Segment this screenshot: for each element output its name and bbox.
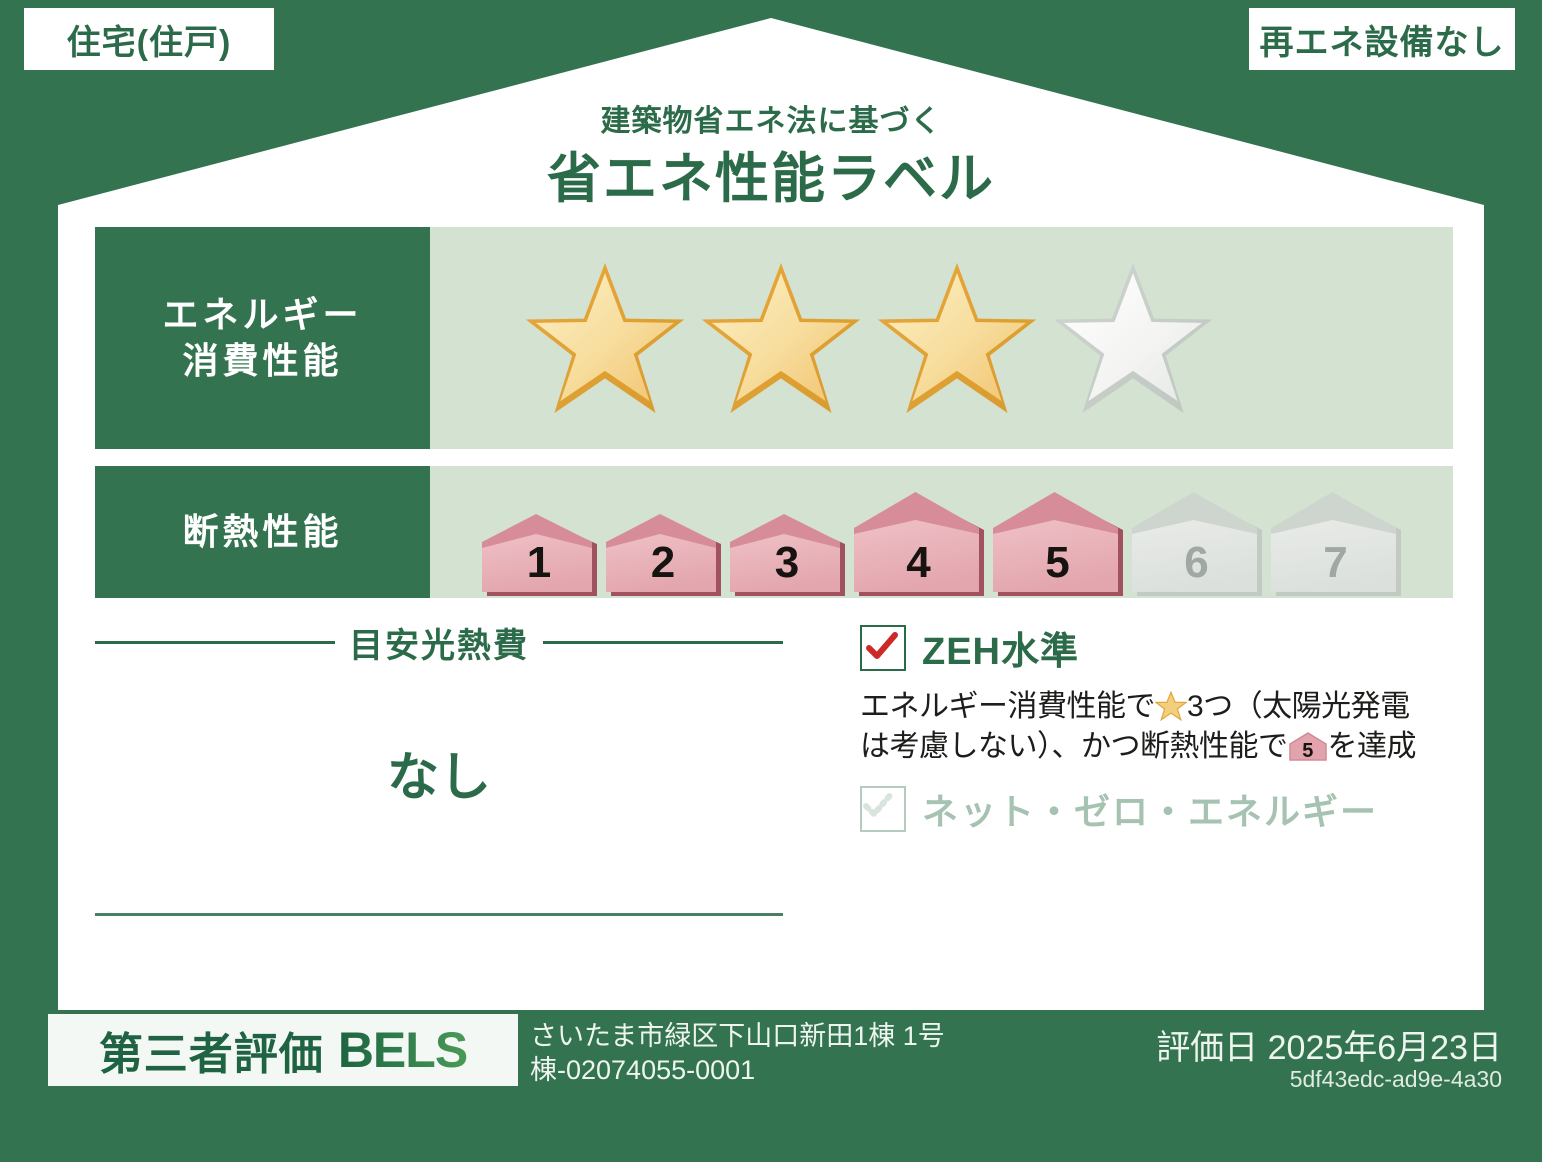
net-zero-energy-label: ネット・ゼロ・エネルギー [922,783,1378,835]
insulation-grade-number: 3 [726,538,848,588]
zeh-checkbox[interactable] [860,625,906,671]
energy-performance-label-line1: エネルギー [162,292,362,338]
utility-cost-value: なし [95,735,783,810]
check-icon-faded [862,788,896,822]
star-icon-inline [1155,691,1187,721]
insulation-grade-4: 4 [850,490,987,598]
badge-building-type-label: 住宅(住戸) [67,15,232,64]
insulation-performance-label: 断熱性能 [95,466,430,598]
star-icon-filled [696,258,866,418]
star-icon-empty [1048,258,1218,418]
insulation-grade-number: 2 [602,538,724,588]
divider-right [543,641,783,644]
insulation-grade-number: 6 [1128,538,1265,588]
check-icon [865,630,899,664]
evaluation-id: 5df43edc-ad9e-4a30 [1290,1066,1502,1093]
insulation-performance-label-text: 断熱性能 [182,509,342,555]
utility-cost-heading: 目安光熱費 [95,618,783,667]
bels-logo-en: BELS [338,1021,467,1079]
insulation-grade-3: 3 [726,512,848,598]
zeh-title-label: ZEH水準 [922,620,1079,675]
zeh-description-stars: 3つ（太陽光発電 [1187,690,1410,723]
energy-performance-row: エネルギー 消費性能 [95,227,1453,449]
net-zero-energy-checkbox[interactable] [860,786,906,832]
star-icon-filled [520,258,690,418]
zeh-title-row: ZEH水準 [860,620,1460,675]
bels-logo-jp: 第三者評価 [99,1018,324,1082]
badge-building-type: 住宅(住戸) [24,8,274,70]
insulation-grade-icon-inline: 5 [1288,730,1328,762]
energy-performance-value [430,227,1453,449]
insulation-grade-5: 5 [989,490,1126,598]
evaluation-date: 評価日 2025年6月23日 [1156,1020,1502,1069]
badge-renewable-equipment-label: 再エネ設備なし [1260,15,1505,64]
insulation-performance-row: 断熱性能 1234567 [95,466,1453,598]
insulation-grade-6: 6 [1128,490,1265,598]
bels-logo: 第三者評価 BELS [48,1014,518,1086]
insulation-grade-scale: 1234567 [430,466,1404,598]
footer: 第三者評価 BELS さいたま市緑区下山口新田1棟 1号棟-02074055-0… [0,1000,1542,1162]
insulation-grade-2: 2 [602,512,724,598]
utility-cost-heading-label: 目安光熱費 [349,618,529,667]
insulation-grade-number: 1 [478,538,600,588]
zeh-description-part1: エネルギー消費性能で [860,690,1155,723]
insulation-grade-number: 7 [1267,538,1404,588]
bels-energy-label: 住宅(住戸) 再エネ設備なし 建築物省エネ法に基づく 省エネ性能ラベル エネルギ… [0,0,1542,1162]
insulation-grade-number: 4 [850,538,987,588]
zeh-description-part3: を達成 [1328,730,1417,763]
insulation-grade-1: 1 [478,512,600,598]
zeh-section: ZEH水準 エネルギー消費性能で3つ（太陽光発電 は考慮しない）、かつ断熱性能で… [860,620,1460,835]
star-icon-filled [872,258,1042,418]
zeh-description-part2: は考慮しない）、かつ断熱性能で [860,730,1288,763]
insulation-grade-icon-number: 5 [1288,741,1328,761]
energy-performance-label-line2: 消費性能 [182,338,342,384]
insulation-performance-value: 1234567 [430,466,1453,598]
star-rating [430,258,1218,418]
utility-cost-bottom-rule [95,913,783,916]
zeh-description: エネルギー消費性能で3つ（太陽光発電 は考慮しない）、かつ断熱性能で5を達成 [860,687,1460,767]
page-title: 省エネ性能ラベル [0,134,1542,213]
energy-performance-label: エネルギー 消費性能 [95,227,430,449]
divider-left [95,641,335,644]
net-zero-energy-row: ネット・ゼロ・エネルギー [860,783,1460,835]
property-address: さいたま市緑区下山口新田1棟 1号棟-02074055-0001 [530,1020,1090,1088]
insulation-grade-number: 5 [989,538,1126,588]
badge-renewable-equipment: 再エネ設備なし [1249,8,1515,70]
insulation-grade-7: 7 [1267,490,1404,598]
